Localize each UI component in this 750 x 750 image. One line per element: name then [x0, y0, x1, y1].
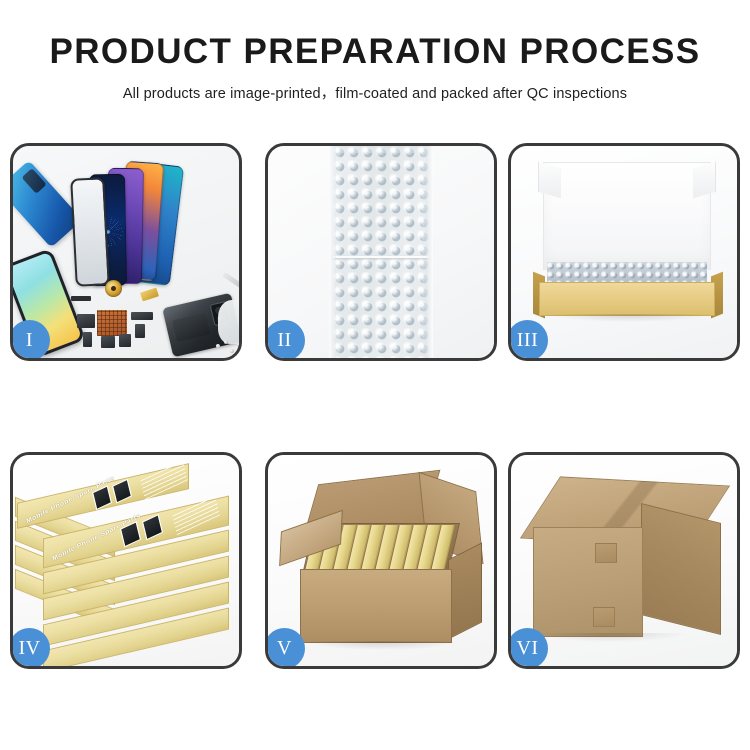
phone-glass-panel-icon — [70, 177, 110, 287]
part-sim-tray-icon — [83, 332, 92, 347]
step-badge-1: I — [10, 320, 50, 361]
part-flex-cable-icon — [131, 312, 153, 320]
box-wall-front — [539, 282, 715, 316]
part-connector-icon — [77, 314, 95, 328]
step-4-image: Mobile Phone Spare Parts Mobile Phone Sp… — [13, 455, 239, 666]
step-badge-5: V — [265, 628, 305, 669]
tweezers-icon — [222, 272, 239, 293]
process-step-1: I — [10, 143, 242, 361]
wrap-edge-left — [329, 146, 336, 358]
box-screen-image-icon — [142, 514, 163, 540]
step-5-image — [268, 455, 494, 666]
box-screen-image-icon — [112, 479, 132, 504]
box-lid-white — [543, 162, 711, 270]
sealed-shipping-carton — [529, 481, 725, 647]
step-badge-4: IV — [10, 628, 50, 669]
product-preparation-infographic: PRODUCT PREPARATION PROCESS All products… — [0, 0, 750, 750]
process-step-2: II — [265, 143, 497, 361]
step-6-image — [511, 455, 737, 666]
process-step-4: Mobile Phone Spare Parts Mobile Phone Sp… — [10, 452, 242, 669]
step-1-image — [13, 146, 239, 358]
part-speaker-icon — [101, 336, 115, 348]
part-gold-clip-icon — [140, 288, 159, 302]
box-stack: Mobile Phone Spare Parts Mobile Phone Sp… — [13, 465, 239, 665]
carton-front-panel — [300, 569, 452, 643]
carton-tab-lower — [593, 607, 615, 627]
phone-fan-group — [75, 160, 205, 285]
box-spec-lines — [140, 460, 188, 500]
process-step-grid: I II — [0, 0, 750, 750]
hand-icon — [218, 300, 239, 344]
step-badge-6: VI — [508, 628, 548, 669]
part-copper-mesh-icon — [97, 310, 127, 336]
carton-side-panel — [448, 542, 482, 639]
part-button-icon — [135, 324, 145, 338]
open-mailer-box — [533, 162, 721, 337]
step-2-image — [268, 146, 494, 358]
process-step-3: III — [508, 143, 740, 361]
screws-group-icon — [216, 340, 239, 356]
process-step-6: VI — [508, 452, 740, 669]
wrap-edge-right — [426, 146, 433, 358]
step-badge-3: III — [508, 320, 548, 361]
step-3-image — [511, 146, 737, 358]
part-coil-icon — [105, 280, 122, 297]
process-step-5: V — [265, 452, 497, 669]
drop-shadow — [306, 641, 456, 650]
drop-shadow — [535, 633, 685, 642]
drop-shadow — [549, 314, 709, 322]
carton-front-panel — [533, 527, 643, 637]
carton-tab-upper — [595, 543, 617, 563]
bubble-wrap-strip — [329, 146, 433, 358]
open-shipping-carton — [282, 477, 482, 655]
step-badge-2: II — [265, 320, 305, 361]
spare-parts-group — [71, 274, 239, 358]
box-spec-lines — [172, 495, 220, 535]
part-bar-icon — [71, 296, 91, 301]
wrap-seam — [333, 256, 429, 258]
battery-icon — [172, 313, 210, 342]
carton-right-panel — [641, 503, 721, 635]
part-camera-icon — [119, 334, 131, 347]
